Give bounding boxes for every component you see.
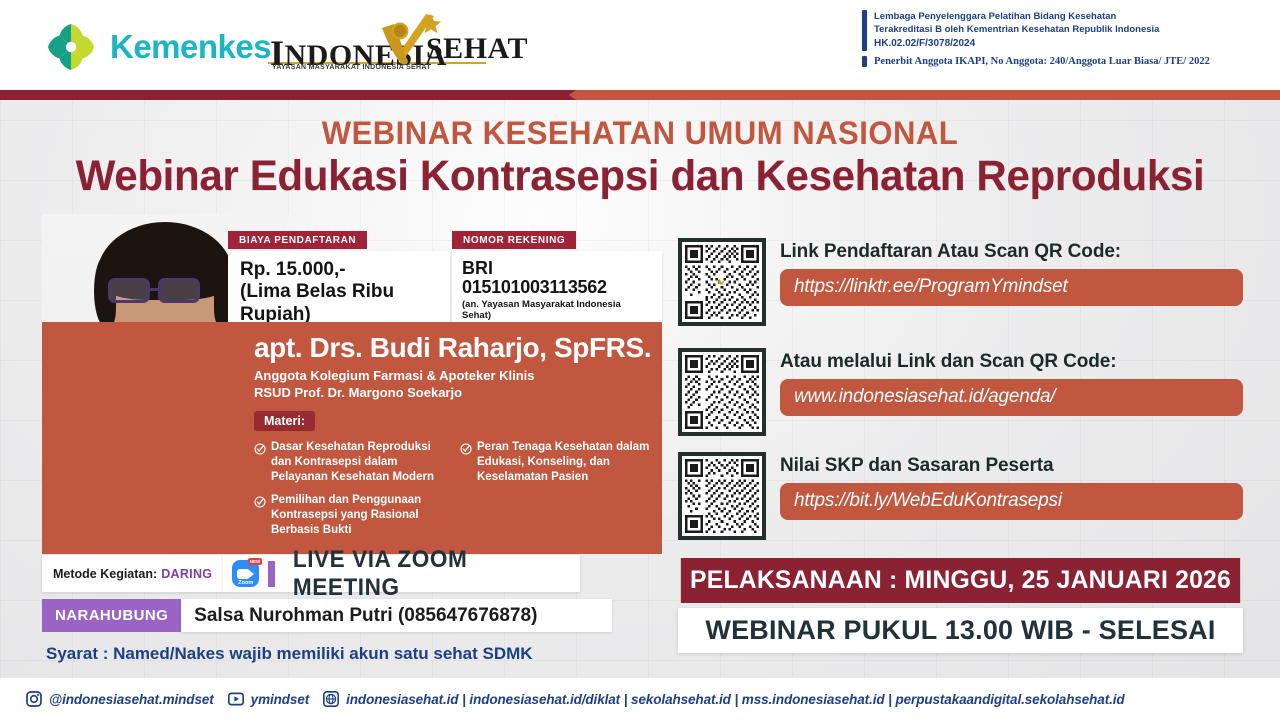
instagram-handle[interactable]: @indonesiasehat.mindset (26, 691, 214, 707)
zoom-camera-lens (249, 570, 254, 578)
requirement-note: Syarat : Named/Nakes wajib memiliki akun… (46, 644, 533, 664)
speaker-info-panel: apt. Drs. Budi Raharjo, SpFRS. Anggota K… (42, 322, 662, 554)
zoom-platform-box: Zoom NEW LIVE VIA ZOOM MEETING (223, 555, 580, 592)
speaker-role: Anggota Kolegium Farmasi & Apoteker Klin… (254, 368, 658, 401)
list-item: Peran Tenaga Kesehatan dalam Edukasi, Ko… (460, 440, 652, 485)
yayasan-tagline: YAYASAN MASYARAKAT INDONESIA SEHAT (272, 64, 431, 71)
list-item: Dasar Kesehatan Reproduksi dan Kontrasep… (254, 440, 446, 485)
accent-bar (862, 10, 867, 51)
kemenkes-wordmark: Kemenkes (110, 28, 271, 66)
topics-column-right: Peran Tenaga Kesehatan dalam Edukasi, Ko… (460, 440, 652, 546)
account-tag: NOMOR REKENING (452, 231, 576, 249)
accreditation-lines: Lembaga Penyelenggara Pelatihan Bidang K… (874, 10, 1159, 51)
glasses-lens-left (108, 278, 150, 303)
accreditation-group-1: Lembaga Penyelenggara Pelatihan Bidang K… (862, 10, 1262, 51)
check-circle-icon (254, 495, 266, 507)
ikapi-line: Penerbit Anggota IKAPI, No Anggota: 240/… (874, 56, 1210, 67)
glasses-lens-right (158, 278, 200, 303)
qr-code-2-image (685, 355, 759, 429)
qr-code-1-image (685, 245, 759, 319)
qr-block-2-text: Atau melalui Link dan Scan QR Code: www.… (780, 348, 1243, 436)
kemenkes-logo: Kemenkes (42, 18, 271, 76)
globe-icon (323, 691, 339, 707)
topic-text: Pemilihan dan Penggunaan Kontrasepsi yan… (271, 493, 446, 538)
poster-canvas: Kemenkes INDONESIA SEHAT YAYASAN MASYARA… (0, 0, 1280, 720)
topic-text: Peran Tenaga Kesehatan dalam Edukasi, Ko… (477, 440, 652, 485)
instagram-icon (26, 691, 42, 707)
glasses-bridge (148, 288, 160, 291)
poster-header: Kemenkes INDONESIA SEHAT YAYASAN MASYARA… (0, 0, 1280, 90)
materi-badge: Materi: (254, 411, 315, 431)
qr-code-1[interactable] (678, 238, 766, 326)
accreditation-line-1: Lembaga Penyelenggara Pelatihan Bidang K… (874, 10, 1159, 23)
zoom-wordmark: Zoom (232, 580, 259, 586)
check-circle-icon (460, 442, 472, 454)
qr-block-1-text: Link Pendaftaran Atau Scan QR Code: http… (780, 238, 1243, 326)
speaker-name: apt. Drs. Budi Raharjo, SpFRS. (254, 332, 658, 364)
fee-tag: BIAYA PENDAFTARAN (228, 231, 367, 249)
skp-link[interactable]: https://bit.ly/WebEduKontrasepsi (780, 483, 1243, 520)
qr-block-registration: Link Pendaftaran Atau Scan QR Code: http… (678, 238, 1243, 326)
speaker-role-line-1: Anggota Kolegium Farmasi & Apoteker Klin… (254, 368, 658, 385)
sehat-word: SEHAT (426, 32, 528, 66)
accreditation-block: Lembaga Penyelenggara Pelatihan Bidang K… (862, 10, 1262, 72)
zoom-icon: Zoom NEW (232, 560, 259, 587)
agenda-link[interactable]: www.indonesiasehat.id/agenda/ (780, 379, 1243, 416)
account-number: 015101003113562 (462, 278, 652, 297)
qr-block-agenda: Atau melalui Link dan Scan QR Code: www.… (678, 348, 1243, 436)
indonesia-sehat-logo: INDONESIA SEHAT YAYASAN MASYARAKAT INDON… (268, 18, 518, 80)
bank-name: BRI (462, 259, 652, 278)
websites-list[interactable]: indonesiasehat.id | indonesiasehat.id/di… (323, 691, 1124, 707)
bank-account-box: NOMOR REKENING BRI 015101003113562 (an. … (452, 230, 662, 328)
method-label-box: Metode Kegiatan: DARING (42, 555, 223, 592)
check-circle-icon (254, 442, 266, 454)
method-value: DARING (161, 567, 212, 581)
poster-footer: @indonesiasehat.mindset ymindset ind (0, 678, 1280, 720)
topics-container: Dasar Kesehatan Reproduksi dan Kontrasep… (254, 440, 658, 546)
contact-tag: NARAHUBUNG (42, 599, 181, 632)
qr-code-2[interactable] (678, 348, 766, 436)
accreditation-number: HK.02.02/F/3078/2024 (874, 37, 1159, 51)
qr-code-3-image (685, 459, 759, 533)
purple-separator (268, 561, 275, 587)
fee-words: (Lima Belas Ribu Rupiah) (240, 281, 438, 326)
accreditation-group-2: Penerbit Anggota IKAPI, No Anggota: 240/… (862, 56, 1262, 67)
instagram-label: @indonesiasehat.mindset (49, 692, 214, 707)
event-date-banner: PELAKSANAAN : MINGGU, 25 JANUARI 2026 (681, 558, 1240, 603)
qr-heading: Nilai SKP dan Sasaran Peserta (780, 455, 1243, 477)
divider-right (560, 90, 1280, 100)
qr-heading: Atau melalui Link dan Scan QR Code: (780, 351, 1243, 373)
fee-amount: Rp. 15.000,- (240, 259, 438, 281)
qr-block-skp: Nilai SKP dan Sasaran Peserta https://bi… (678, 452, 1243, 540)
registration-link[interactable]: https://linktr.ee/ProgramYmindset (780, 269, 1243, 306)
qr-heading: Link Pendaftaran Atau Scan QR Code: (780, 241, 1243, 263)
accent-bar-2 (862, 56, 867, 67)
speaker-role-line-2: RSUD Prof. Dr. Margono Soekarjo (254, 385, 658, 402)
method-row: Metode Kegiatan: DARING Zoom NEW LIVE VI… (42, 555, 580, 592)
header-divider (0, 90, 1280, 100)
kemenkes-flower-icon (42, 18, 100, 76)
event-time-banner: WEBINAR PUKUL 13.00 WIB - SELESAI (678, 608, 1243, 653)
page-title: Webinar Edukasi Kontrasepsi dan Kesehata… (13, 152, 1267, 201)
youtube-icon (228, 691, 244, 707)
registration-fee-box: BIAYA PENDAFTARAN Rp. 15.000,- (Lima Bel… (228, 230, 450, 335)
event-kicker: WEBINAR KESEHATAN UMUM NASIONAL (19, 115, 1261, 152)
platform-label: LIVE VIA ZOOM MEETING (293, 546, 571, 602)
qr-block-3-text: Nilai SKP dan Sasaran Peserta https://bi… (780, 452, 1243, 540)
accreditation-line-2: Terakreditasi B oleh Kementrian Kesehata… (874, 23, 1159, 36)
divider-left (0, 90, 570, 100)
method-label: Metode Kegiatan: (53, 567, 157, 581)
contact-row: NARAHUBUNG Salsa Nurohman Putri (0856476… (42, 599, 612, 632)
account-holder: (an. Yayasan Masyarakat Indonesia Sehat) (462, 299, 652, 321)
topics-column-left: Dasar Kesehatan Reproduksi dan Kontrasep… (254, 440, 446, 546)
list-item: Pemilihan dan Penggunaan Kontrasepsi yan… (254, 493, 446, 538)
qr-code-3[interactable] (678, 452, 766, 540)
contact-person: Salsa Nurohman Putri (085647676878) (181, 599, 612, 632)
youtube-handle[interactable]: ymindset (228, 691, 309, 707)
account-panel: BRI 015101003113562 (an. Yayasan Masyara… (452, 251, 662, 328)
topic-text: Dasar Kesehatan Reproduksi dan Kontrasep… (271, 440, 446, 485)
zoom-new-badge: NEW (248, 558, 263, 565)
speaker-info-inner: apt. Drs. Budi Raharjo, SpFRS. Anggota K… (254, 332, 658, 546)
websites-label: indonesiasehat.id | indonesiasehat.id/di… (346, 692, 1124, 707)
youtube-label: ymindset (251, 692, 309, 707)
